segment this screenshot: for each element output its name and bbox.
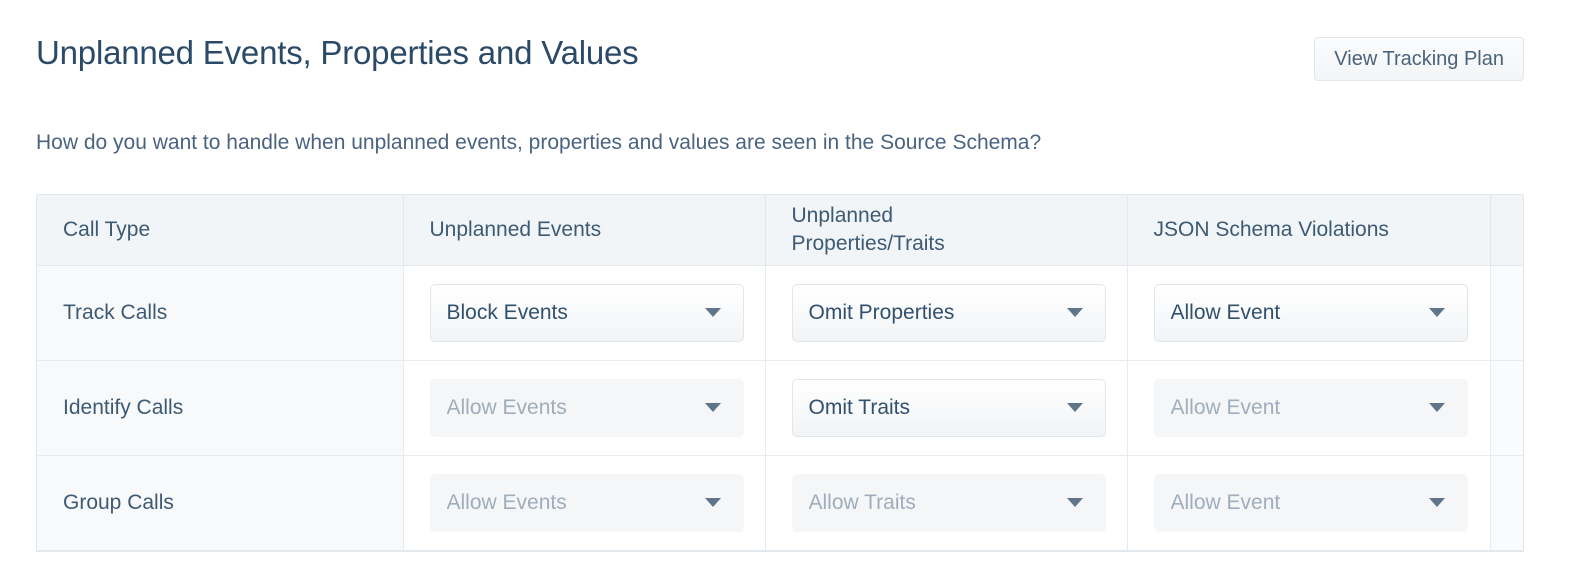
chevron-down-icon [1429, 403, 1445, 412]
column-header-unplanned-properties: Unplanned Properties/Traits [765, 195, 1127, 265]
group-calls-unplanned-properties-select: Allow Traits [792, 474, 1106, 532]
column-header-unplanned-events: Unplanned Events [403, 195, 765, 265]
identify-calls-unplanned-properties-select-value: Omit Traits [809, 396, 1067, 420]
cell-json-schema-violations-group-calls: Allow Event [1127, 455, 1490, 550]
cell-unplanned-properties-group-calls: Allow Traits [765, 455, 1127, 550]
table-header-row: Call Type Unplanned Events Unplanned Pro… [37, 195, 1523, 265]
column-header-unplanned-properties-line1: Unplanned [792, 204, 894, 227]
track-calls-json-schema-violations-select-value: Allow Event [1171, 301, 1429, 325]
table-row: Group CallsAllow EventsAllow TraitsAllow… [37, 455, 1523, 550]
cell-unplanned-properties-track-calls: Omit Properties [765, 265, 1127, 360]
page-description: How do you want to handle when unplanned… [36, 128, 1041, 158]
cell-unplanned-events-identify-calls: Allow Events [403, 360, 765, 455]
table-row: Track CallsBlock EventsOmit PropertiesAl… [37, 265, 1523, 360]
chevron-down-icon [1067, 498, 1083, 507]
track-calls-unplanned-events-select[interactable]: Block Events [430, 284, 744, 342]
cell-actions-identify-calls [1490, 360, 1523, 455]
identify-calls-json-schema-violations-select: Allow Event [1154, 379, 1468, 437]
track-calls-unplanned-properties-select-value: Omit Properties [809, 301, 1067, 325]
group-calls-unplanned-events-select: Allow Events [430, 474, 744, 532]
cell-actions-group-calls [1490, 455, 1523, 550]
page-title: Unplanned Events, Properties and Values [36, 32, 638, 74]
cell-unplanned-properties-identify-calls: Omit Traits [765, 360, 1127, 455]
identify-calls-json-schema-violations-select-value: Allow Event [1171, 396, 1429, 420]
identify-calls-unplanned-events-select-value: Allow Events [447, 396, 705, 420]
cell-call-type-group-calls: Group Calls [37, 455, 403, 550]
chevron-down-icon [1429, 308, 1445, 317]
chevron-down-icon [1429, 498, 1445, 507]
group-calls-json-schema-violations-select: Allow Event [1154, 474, 1468, 532]
view-tracking-plan-button[interactable]: View Tracking Plan [1314, 37, 1524, 81]
chevron-down-icon [705, 498, 721, 507]
chevron-down-icon [705, 403, 721, 412]
chevron-down-icon [1067, 403, 1083, 412]
cell-json-schema-violations-track-calls: Allow Event [1127, 265, 1490, 360]
identify-calls-unplanned-properties-select[interactable]: Omit Traits [792, 379, 1106, 437]
column-header-unplanned-properties-line2: Properties/Traits [792, 232, 945, 255]
column-header-call-type: Call Type [37, 195, 403, 265]
cell-call-type-track-calls: Track Calls [37, 265, 403, 360]
cell-actions-track-calls [1490, 265, 1523, 360]
track-calls-unplanned-events-select-value: Block Events [447, 301, 705, 325]
table-header: Call Type Unplanned Events Unplanned Pro… [37, 195, 1523, 265]
page-header: Unplanned Events, Properties and Values … [36, 32, 1524, 88]
column-header-actions [1490, 195, 1523, 265]
chevron-down-icon [705, 308, 721, 317]
chevron-down-icon [1067, 308, 1083, 317]
group-calls-unplanned-events-select-value: Allow Events [447, 491, 705, 515]
cell-json-schema-violations-identify-calls: Allow Event [1127, 360, 1490, 455]
track-calls-unplanned-properties-select[interactable]: Omit Properties [792, 284, 1106, 342]
track-calls-json-schema-violations-select[interactable]: Allow Event [1154, 284, 1468, 342]
table-body: Track CallsBlock EventsOmit PropertiesAl… [37, 265, 1523, 550]
identify-calls-unplanned-events-select: Allow Events [430, 379, 744, 437]
cell-call-type-identify-calls: Identify Calls [37, 360, 403, 455]
unplanned-handling-table: Call Type Unplanned Events Unplanned Pro… [37, 195, 1523, 550]
cell-unplanned-events-track-calls: Block Events [403, 265, 765, 360]
group-calls-unplanned-properties-select-value: Allow Traits [809, 491, 1067, 515]
cell-unplanned-events-group-calls: Allow Events [403, 455, 765, 550]
unplanned-events-settings-page: Unplanned Events, Properties and Values … [0, 0, 1586, 584]
unplanned-handling-table-container: Call Type Unplanned Events Unplanned Pro… [36, 194, 1524, 552]
table-row: Identify CallsAllow EventsOmit TraitsAll… [37, 360, 1523, 455]
column-header-json-schema-violations: JSON Schema Violations [1127, 195, 1490, 265]
group-calls-json-schema-violations-select-value: Allow Event [1171, 491, 1429, 515]
